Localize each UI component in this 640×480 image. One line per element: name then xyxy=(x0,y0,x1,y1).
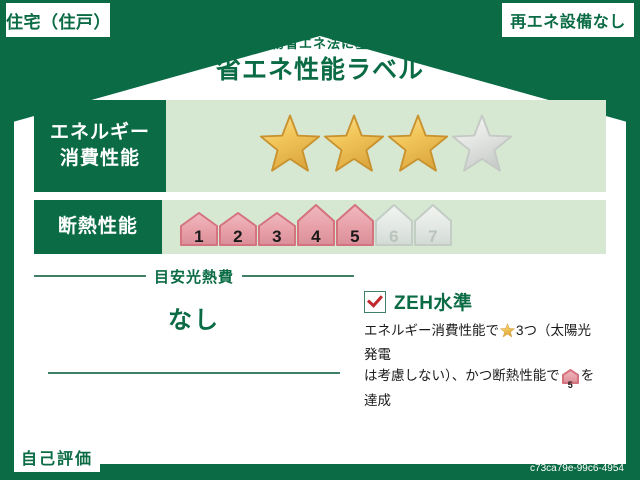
insulation-level-7: 7 xyxy=(414,204,452,251)
zeh-desc-part2: は考慮しない）、かつ断熱性能で xyxy=(364,368,560,383)
evaluation-hash: c73ca79e-99c6-4954 xyxy=(471,463,624,474)
insulation-level-3: 3 xyxy=(258,212,296,251)
property-address: 大泉町吉田第12（4棟）1号棟（25783600100） xyxy=(96,448,352,465)
star-filled xyxy=(259,113,321,180)
footer: 自己評価 大泉町吉田第12（4棟）1号棟（25783600100） 評価日 20… xyxy=(0,434,640,480)
title-main: 省エネ性能ラベル xyxy=(0,54,640,88)
energy-stars-container xyxy=(166,100,606,192)
energy-performance-row: エネルギー 消費性能 xyxy=(34,100,606,192)
energy-label-line1: エネルギー xyxy=(50,122,150,143)
mini-house-icon: 5 xyxy=(562,369,579,391)
insulation-level-number: 5 xyxy=(336,227,374,247)
mini-star-icon xyxy=(500,323,515,345)
cost-heading-row: 目安光熱費 xyxy=(34,266,354,286)
insulation-level-1: 1 xyxy=(180,212,218,251)
self-evaluation-badge: 自己評価 xyxy=(14,442,100,472)
evaluation-date: 評価日 2025年5月23日 xyxy=(471,440,624,461)
insulation-performance-row: 断熱性能 1234567 xyxy=(34,200,606,254)
insulation-level-number: 7 xyxy=(414,227,452,247)
star-empty xyxy=(451,113,513,180)
star-filled xyxy=(323,113,385,180)
badge-building-type: 住宅（住戸） xyxy=(6,3,110,37)
insulation-level-number: 6 xyxy=(375,227,413,247)
zeh-desc-part1: エネルギー消費性能で xyxy=(364,323,499,338)
insulation-performance-label: 断熱性能 xyxy=(34,200,162,254)
insulation-level-number: 2 xyxy=(219,227,257,247)
badge-renewable-energy: 再エネ設備なし xyxy=(502,3,634,37)
zeh-checkbox-icon[interactable] xyxy=(364,291,386,313)
insulation-level-2: 2 xyxy=(219,212,257,251)
evaluation-date-block: 評価日 2025年5月23日 c73ca79e-99c6-4954 xyxy=(471,440,624,474)
zeh-block: ZEH水準 エネルギー消費性能で3つ（太陽光発電は考慮しない）、かつ断熱性能で5… xyxy=(364,288,604,412)
zeh-title: ZEH水準 xyxy=(394,288,473,315)
energy-label-line2: 消費性能 xyxy=(60,148,140,169)
zeh-description: エネルギー消費性能で3つ（太陽光発電は考慮しない）、かつ断熱性能で5を達成 xyxy=(364,321,604,412)
cost-value: なし xyxy=(34,300,354,335)
star-filled xyxy=(387,113,449,180)
label-title-block: 建築物省エネ法に基づく 省エネ性能ラベル xyxy=(0,36,640,88)
insulation-scale-body: 1234567 xyxy=(162,200,606,254)
insulation-level-4: 4 xyxy=(297,204,335,251)
footer-divider xyxy=(14,426,626,428)
cost-rule-right xyxy=(242,275,354,277)
cost-rule-left xyxy=(34,275,146,277)
insulation-level-number: 1 xyxy=(180,227,218,247)
energy-label-page: 住宅（住戸） 再エネ設備なし 建築物省エネ法に基づく 省エネ性能ラベル エネルギ… xyxy=(0,0,640,480)
insulation-level-6: 6 xyxy=(375,204,413,251)
cost-heading-text: 目安光熱費 xyxy=(154,266,234,287)
energy-performance-label: エネルギー 消費性能 xyxy=(34,100,166,192)
insulation-level-number: 3 xyxy=(258,227,296,247)
cost-bottom-divider xyxy=(48,372,340,374)
insulation-level-5: 5 xyxy=(336,204,374,251)
label-card: エネルギー 消費性能 断熱性能 1234567 目安光熱費 なし ZEH水準 xyxy=(34,100,606,440)
insulation-house-scale: 1234567 xyxy=(180,204,452,251)
insulation-level-number: 4 xyxy=(297,227,335,247)
zeh-heading-row: ZEH水準 xyxy=(364,288,604,315)
title-subtitle: 建築物省エネ法に基づく xyxy=(0,36,640,53)
